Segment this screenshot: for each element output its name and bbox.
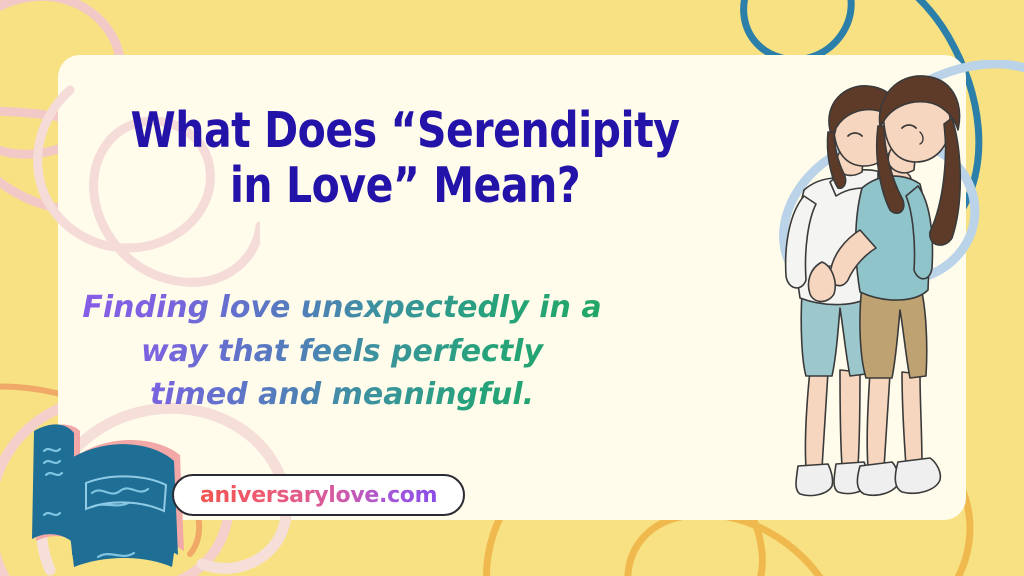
- poster-canvas: What Does “Serendipity in Love” Mean? Fi…: [0, 0, 1024, 576]
- subtitle-text: Finding love unexpectedly in a way that …: [62, 286, 622, 417]
- hugging-couple-illustration: [752, 70, 997, 510]
- page-title: What Does “Serendipity in Love” Mean?: [93, 104, 716, 214]
- open-book-icon: [8, 415, 198, 576]
- website-url-label: aniversarylove.com: [200, 483, 437, 508]
- website-badge[interactable]: aniversarylove.com: [172, 474, 465, 516]
